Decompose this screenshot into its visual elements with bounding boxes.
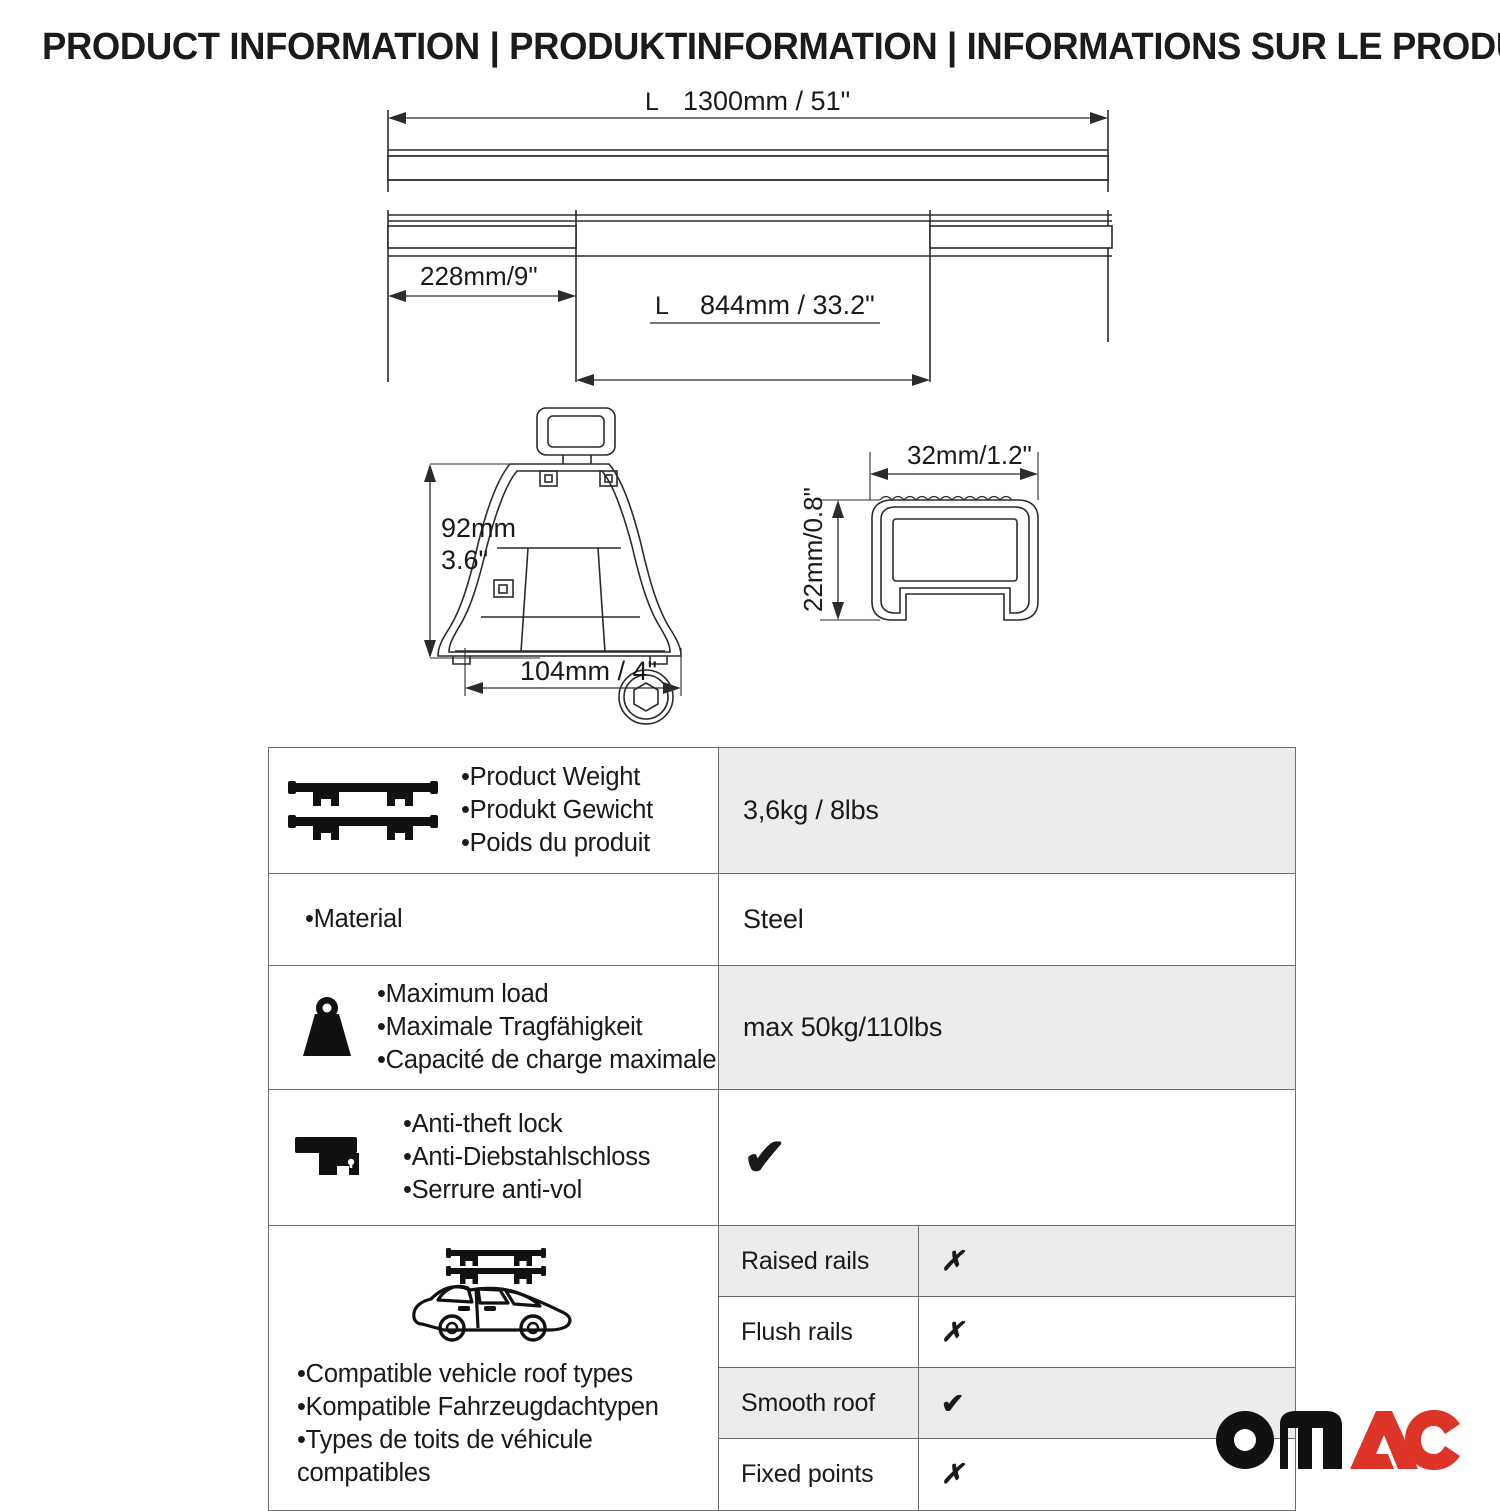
label-line: •Capacité de charge maximale bbox=[377, 1044, 716, 1077]
roof-type-name: Flush rails bbox=[719, 1297, 919, 1367]
label-line: •Material bbox=[305, 903, 402, 936]
label-line: •Produkt Gewicht bbox=[461, 794, 653, 827]
table-row: •Material Steel bbox=[269, 874, 1295, 966]
roof-types-list: Raised rails ✗ Flush rails ✗ Smooth roof… bbox=[719, 1226, 1295, 1510]
table-row-roof-types: •Compatible vehicle roof types •Kompatib… bbox=[269, 1226, 1295, 1510]
label-line: •Types de toits de véhicule compatibles bbox=[297, 1424, 697, 1490]
label-line: •Compatible vehicle roof types bbox=[297, 1358, 697, 1391]
page-title: PRODUCT INFORMATION | PRODUKTINFORMATION… bbox=[42, 26, 1500, 69]
foot-height-mm-label: 92mm bbox=[441, 513, 516, 543]
page-header: PRODUCT INFORMATION | PRODUKTINFORMATION… bbox=[0, 0, 1500, 82]
omac-logo-mark bbox=[1212, 1402, 1462, 1474]
omac-logo bbox=[1212, 1402, 1462, 1474]
spec-value-product-weight: 3,6kg / 8lbs bbox=[719, 748, 1295, 873]
spec-value-anti-theft-lock: ✔ bbox=[719, 1090, 1295, 1225]
label-line: •Kompatible Fahrzeugdachtypen bbox=[297, 1391, 697, 1424]
table-row: •Anti-theft lock •Anti-Diebstahlschloss … bbox=[269, 1090, 1295, 1226]
label-line: •Poids du produit bbox=[461, 827, 653, 860]
spec-label-cell: •Anti-theft lock •Anti-Diebstahlschloss … bbox=[269, 1090, 719, 1225]
spec-value-maximum-load: max 50kg/110lbs bbox=[719, 966, 1295, 1089]
roof-type-name: Smooth roof bbox=[719, 1368, 919, 1438]
spec-value-material: Steel bbox=[719, 874, 1295, 965]
label-line: •Anti-Diebstahlschloss bbox=[403, 1141, 650, 1174]
roof-type-row-smooth-roof: Smooth roof ✔ bbox=[719, 1368, 1295, 1439]
profile-height-label: 22mm/0.8" bbox=[798, 487, 828, 612]
label-line: •Anti-theft lock bbox=[403, 1108, 650, 1141]
roof-types-label-text: •Compatible vehicle roof types •Kompatib… bbox=[279, 1358, 697, 1491]
bar-length-label: 1300mm / 51" bbox=[683, 86, 850, 116]
profile-width-label: 32mm/1.2" bbox=[907, 440, 1032, 470]
spec-label-cell: •Maximum load •Maximale Tragfähigkeit •C… bbox=[269, 966, 719, 1089]
roof-types-label-cell: •Compatible vehicle roof types •Kompatib… bbox=[269, 1226, 719, 1510]
roof-type-row-flush-rails: Flush rails ✗ bbox=[719, 1297, 1295, 1368]
spread-length-label: 844mm / 33.2" bbox=[700, 290, 875, 320]
spread-symbol: L bbox=[655, 292, 669, 320]
foot-height-in-label: 3.6" bbox=[441, 545, 488, 575]
specification-table: •Product Weight •Produkt Gewicht •Poids … bbox=[268, 747, 1296, 1511]
length-symbol-top: L bbox=[645, 88, 659, 116]
roof-type-name: Raised rails bbox=[719, 1226, 919, 1296]
spec-label-text: •Maximum load •Maximale Tragfähigkeit •C… bbox=[377, 978, 716, 1077]
label-line: •Maximum load bbox=[377, 978, 716, 1011]
foot-width-label: 104mm / 4" bbox=[520, 656, 657, 686]
foot-offset-label: 228mm/9" bbox=[420, 261, 538, 291]
roof-bars-icon bbox=[287, 773, 439, 849]
label-line: •Product Weight bbox=[461, 761, 653, 794]
label-line: •Maximale Tragfähigkeit bbox=[377, 1011, 716, 1044]
roof-type-mark-icon: ✗ bbox=[919, 1297, 1295, 1367]
table-row: •Product Weight •Produkt Gewicht •Poids … bbox=[269, 748, 1295, 874]
roof-type-row-fixed-points: Fixed points ✗ bbox=[719, 1439, 1295, 1510]
table-row: •Maximum load •Maximale Tragfähigkeit •C… bbox=[269, 966, 1295, 1090]
spec-label-cell: •Material bbox=[269, 874, 719, 965]
weight-icon bbox=[291, 992, 363, 1064]
label-line: •Serrure anti-vol bbox=[403, 1174, 650, 1207]
lock-bar-icon bbox=[291, 1127, 375, 1189]
car-with-roof-bars-icon bbox=[400, 1240, 588, 1348]
roof-type-row-raised-rails: Raised rails ✗ bbox=[719, 1226, 1295, 1297]
technical-drawing-area: L 1300mm / 51" 228mm/9" L 844mm / 33.2" … bbox=[0, 82, 1500, 730]
roof-type-name: Fixed points bbox=[719, 1439, 919, 1510]
spec-label-cell: •Product Weight •Produkt Gewicht •Poids … bbox=[269, 748, 719, 873]
spec-label-text: •Anti-theft lock •Anti-Diebstahlschloss … bbox=[403, 1108, 650, 1207]
spec-label-text: •Material bbox=[305, 903, 402, 936]
spec-label-text: •Product Weight •Produkt Gewicht •Poids … bbox=[461, 761, 653, 860]
checkmark-icon: ✔ bbox=[743, 1132, 786, 1184]
product-information-sheet: PRODUCT INFORMATION | PRODUKTINFORMATION… bbox=[0, 0, 1500, 1500]
roof-type-mark-icon: ✗ bbox=[919, 1226, 1295, 1296]
